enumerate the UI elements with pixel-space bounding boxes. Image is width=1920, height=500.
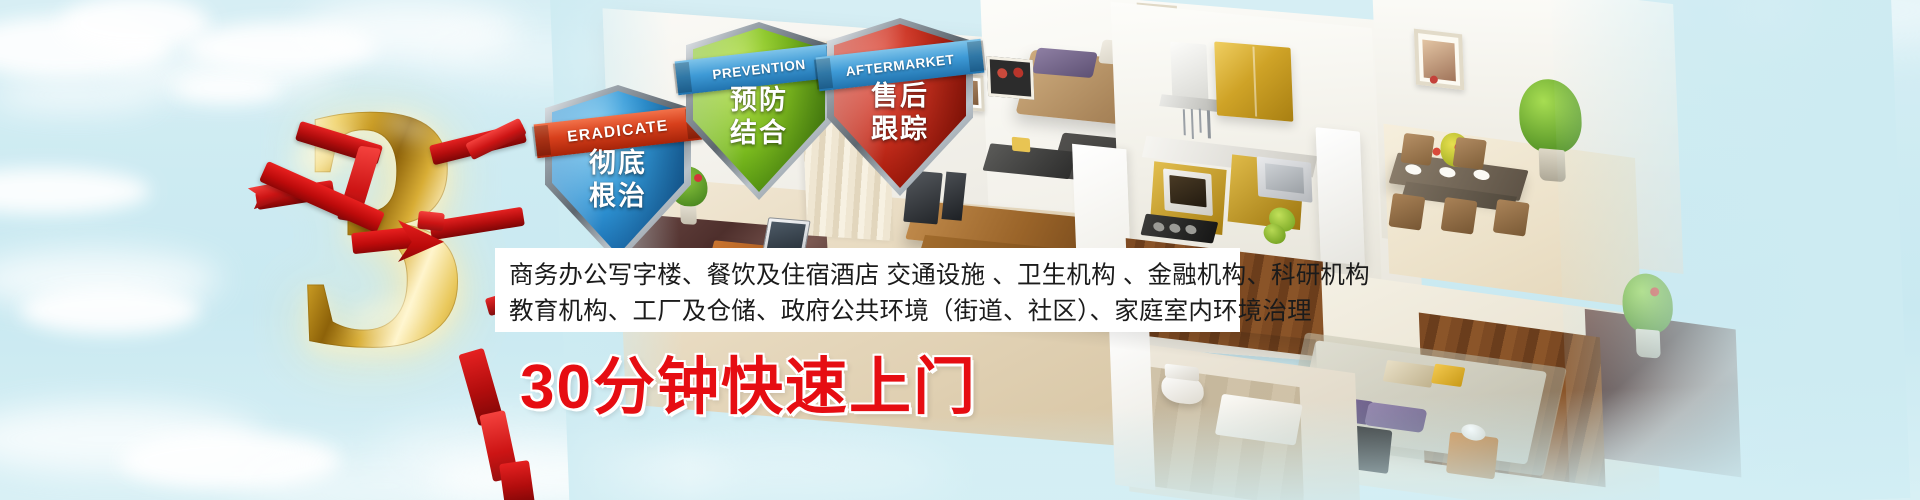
shield-chinese-label: 售后 跟踪 (827, 80, 973, 146)
shield-chinese-line1: 预防 (686, 84, 832, 117)
scope-text-panel: 商务办公写字楼、餐饮及住宿酒店 交通设施 、卫生机构 、金融机构、科研机构 教育… (495, 248, 1240, 332)
scope-line-1: 商务办公写字楼、餐饮及住宿酒店 交通设施 、卫生机构 、金融机构、科研机构 (509, 264, 1235, 289)
shield-prevention[interactable]: PREVENTION 预防 结合 (686, 22, 832, 200)
ribbon-tail (499, 460, 535, 500)
shield-chinese-label: 彻底 根治 (545, 147, 691, 213)
cloud-icon (0, 80, 160, 110)
shield-eradicate[interactable]: ERADICATE 彻底 根治 (545, 85, 691, 263)
shield-chinese-line2: 跟踪 (827, 113, 973, 146)
headline-text: 30分钟快速上门 (520, 352, 977, 424)
shield-chinese-line1: 售后 (827, 80, 973, 113)
shield-english-label: AFTERMARKET (845, 51, 955, 78)
promo-banner: 3 3 3 ERADICATE (0, 0, 1920, 500)
shield-chinese-label: 预防 结合 (686, 84, 832, 150)
cloud-icon (0, 168, 150, 214)
shield-chinese-line2: 结合 (686, 117, 832, 150)
shield-aftermarket[interactable]: AFTERMARKET 售后 跟踪 (827, 18, 973, 196)
shield-english-label: PREVENTION (712, 56, 807, 82)
shield-english-label: ERADICATE (566, 117, 669, 146)
scope-line-2: 教育机构、工厂及仓储、政府公共环境（街道、社区）、家庭室内环境治理 (509, 300, 1235, 325)
cloud-icon (20, 286, 200, 334)
shield-chinese-line1: 彻底 (545, 147, 691, 180)
shield-chinese-line2: 根治 (545, 180, 691, 213)
